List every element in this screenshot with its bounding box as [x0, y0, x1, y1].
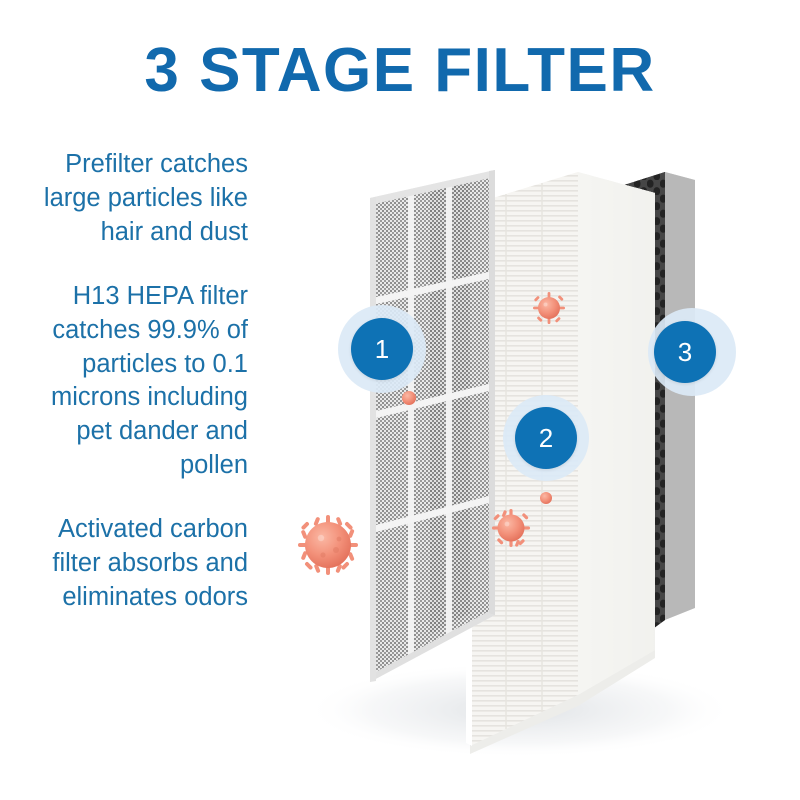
- description-paragraph-prefilter: Prefilter catches large particles like h…: [10, 148, 248, 250]
- particle-tiny-hepa: [540, 492, 552, 504]
- description-paragraph-hepa: H13 HEPA filter catches 99.9% of particl…: [10, 280, 248, 483]
- stage-badge-1[interactable]: 1: [338, 305, 428, 395]
- stage-badge-3[interactable]: 3: [648, 308, 740, 400]
- particle-large-virus: [298, 515, 358, 575]
- description-paragraph-carbon: Activated carbon filter absorbs and elim…: [10, 513, 248, 615]
- stage-badge-2[interactable]: 2: [503, 395, 591, 483]
- badge-number: 1: [351, 318, 413, 380]
- particle-medium-hepa-upper: [533, 292, 565, 324]
- filter-infographic: 3 STAGE FILTER Prefilter catches large p…: [0, 0, 800, 800]
- page-title: 3 STAGE FILTER: [0, 38, 800, 103]
- description-column: Prefilter catches large particles like h…: [10, 148, 248, 615]
- badge-number: 3: [654, 321, 716, 383]
- badge-number: 2: [515, 407, 577, 469]
- prefilter-panel: [370, 170, 495, 682]
